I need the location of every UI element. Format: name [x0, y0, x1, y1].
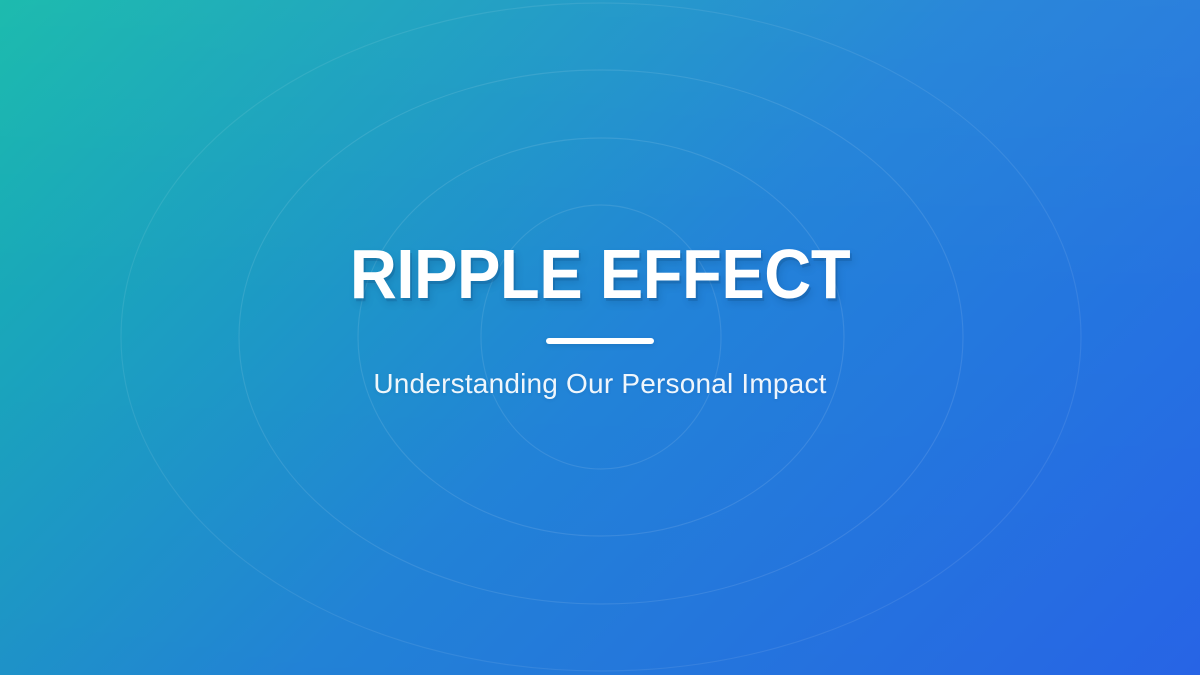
slide-subtitle: Understanding Our Personal Impact — [373, 367, 826, 401]
title-divider — [546, 338, 654, 344]
slide-content: RIPPLE EFFECT Understanding Our Personal… — [0, 0, 1200, 675]
presentation-slide: RIPPLE EFFECT Understanding Our Personal… — [0, 0, 1200, 675]
slide-title: RIPPLE EFFECT — [350, 239, 850, 309]
